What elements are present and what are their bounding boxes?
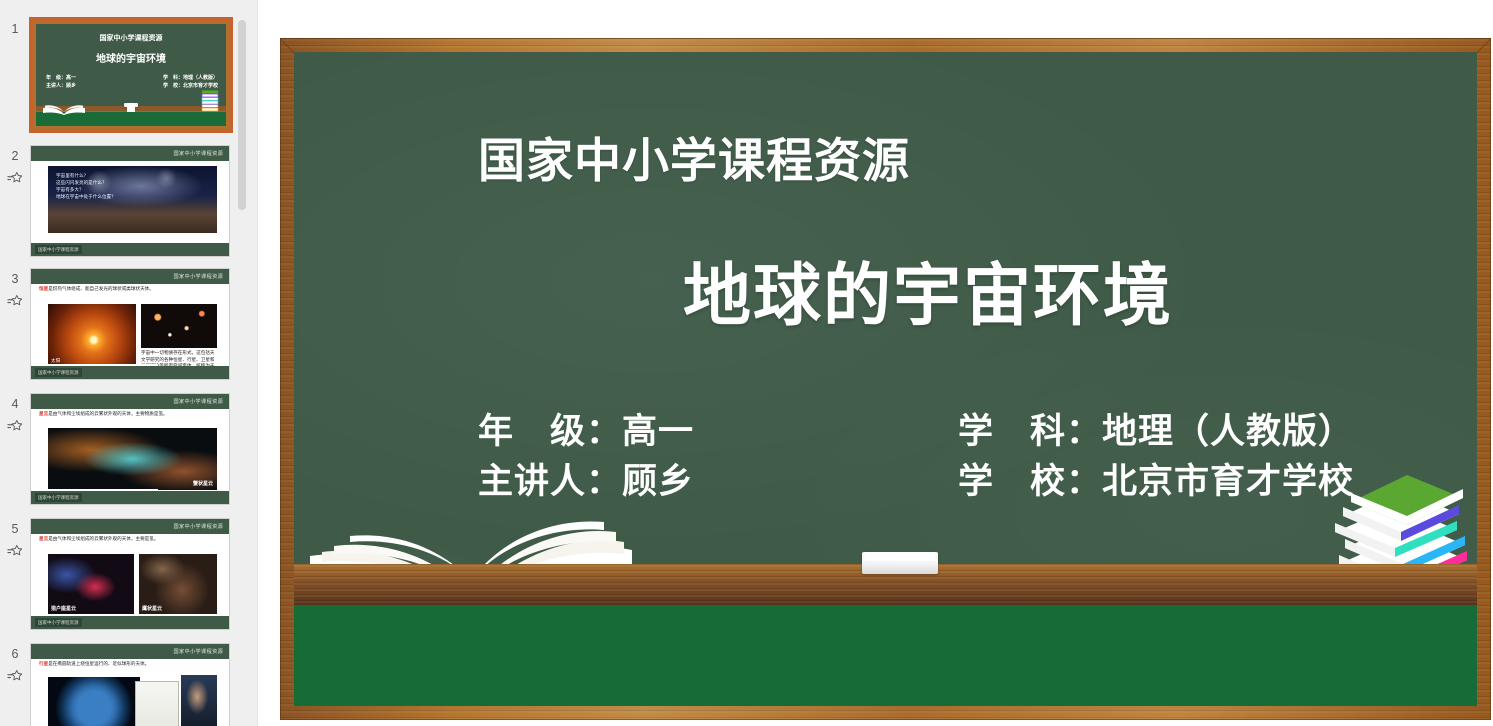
mini-heading-1: 地球的宇宙环境	[36, 50, 226, 65]
thumbnail-scroll-area[interactable]: 1 国家中小学课程资源 地球的宇宙环境 年 级：高一 学 科：地理（人教版） 主…	[0, 0, 258, 726]
slide-base-band	[294, 606, 1477, 706]
mini-footer-4: 国家中小学课程资源	[31, 491, 229, 504]
mini-footer-3: 国家中小学课程资源	[31, 366, 229, 379]
thumbnail-frame-4[interactable]: 国家中小学课程资源 星云是由气体和尘埃组成的云雾状外观的天体，主要物质是氢。 蟹…	[30, 393, 230, 505]
mini-footer-tag-5: 国家中小学课程资源	[35, 618, 82, 627]
mini-meta-right-1a: 学 科：地理（人教版）	[163, 74, 218, 82]
mini-body-text-4: 是由气体和尘埃组成的云雾状外观的天体，主要物质是氢。	[48, 411, 167, 416]
mini-text-block-2: 宇宙里有什么？ 这些闪闪发亮的是什么？ 宇宙有多大？ 地球在宇宙中处于什么位置？	[56, 172, 116, 200]
mini-meta-row-1b: 主讲人：顾乡 学 校：北京市育才学校	[46, 82, 218, 90]
mini-header-text-6: 国家中小学课程资源	[174, 648, 224, 655]
mini-slide-4: 国家中小学课程资源 星云是由气体和尘埃组成的云雾状外观的天体，主要物质是氢。 蟹…	[31, 394, 229, 504]
mini-body-text-6: 是在椭圆轨道上绕恒星运行的、近似球形的天体。	[48, 661, 149, 666]
thumbnail-item-6[interactable]: 6 国家中小学课程资源 行星是在椭圆轨道上绕恒星运行	[0, 643, 230, 726]
thumbnail-item-2[interactable]: 2 国家中小学课程资源	[0, 145, 230, 257]
mini-slide-2: 国家中小学课程资源 宇宙里有什么？ 这些闪闪发亮的是什么？ 宇宙有多大？ 地球在…	[31, 146, 229, 256]
thumbnail-gutter-2: 2	[0, 145, 30, 187]
meta-subject: 学 科：地理（人教版）	[958, 407, 1354, 457]
mini-header-text-2: 国家中小学课程资源	[174, 150, 224, 157]
mini-header-text-4: 国家中小学课程资源	[174, 398, 224, 405]
thumbnail-gutter-4: 4	[0, 393, 30, 435]
mini-slide-3: 国家中小学课程资源 恒星是炽热气体组成、能自己发光的球状或类球状天体。 太阳	[31, 269, 229, 379]
thumbnail-gutter-6: 6	[0, 643, 30, 685]
slide-number-2: 2	[0, 149, 30, 163]
mini-header-text-5: 国家中小学课程资源	[174, 523, 224, 530]
mini-image-crab-nebula: 蟹状星云	[48, 428, 217, 490]
mini-image-milkyway: 宇宙里有什么？ 这些闪闪发亮的是什么？ 宇宙有多大？ 地球在宇宙中处于什么位置？	[48, 166, 217, 233]
mini-body-4: 星云是由气体和尘埃组成的云雾状外观的天体，主要物质是氢。 蟹状星云	[31, 409, 229, 491]
mini-image-label-eagle: 鹰状星云	[142, 605, 162, 612]
mini-footer-tag-4: 国家中小学课程资源	[35, 493, 82, 502]
mini-body-text-5: 是由气体和尘埃组成的云雾状外观的天体，主要是氢。	[48, 536, 158, 541]
thumbnail-gutter-1: 1	[0, 18, 30, 36]
chalk-eraser-icon	[862, 552, 938, 574]
animation-star-icon-4[interactable]	[7, 419, 24, 435]
mini-caption-6: 行星是在椭圆轨道上绕恒星运行的、近似球形的天体。	[39, 661, 221, 668]
mini-line-2-0: 宇宙里有什么？	[56, 172, 116, 179]
mini-image-earth	[48, 677, 140, 726]
slide-heading: 地球的宇宙环境	[683, 256, 1173, 336]
meta-row-grade-subject: 年 级：高一 学 科：地理（人教版）	[478, 407, 1378, 457]
mini-highlight-5: 星云	[39, 536, 48, 541]
mini-book-stack-icon-1	[200, 88, 220, 114]
slide-title: 国家中小学课程资源	[478, 132, 910, 190]
mini-image-label-crab: 蟹状星云	[193, 480, 213, 487]
slide-number-4: 4	[0, 397, 30, 411]
thumbnail-gutter-5: 5	[0, 518, 30, 560]
mini-body-5: 星云是由气体和尘埃组成的云雾状外观的天体，主要是氢。 猎户座星云 鹰状星云	[31, 534, 229, 616]
mini-header-6: 国家中小学课程资源	[31, 644, 229, 659]
mini-footer-2: 国家中小学课程资源	[31, 243, 229, 256]
mini-line-2-2: 宇宙有多大？	[56, 186, 116, 193]
thumbnail-item-1[interactable]: 1 国家中小学课程资源 地球的宇宙环境 年 级：高一 学 科：地理（人教版） 主…	[0, 18, 232, 132]
mini-caption-5: 星云是由气体和尘埃组成的云雾状外观的天体，主要是氢。	[39, 536, 221, 543]
current-slide[interactable]: 国家中小学课程资源 地球的宇宙环境 年 级：高一 学 科：地理（人教版） 主讲人…	[280, 38, 1491, 720]
animation-star-icon-6[interactable]	[7, 669, 24, 685]
mini-image-astronaut	[181, 675, 217, 726]
meta-grade: 年 级：高一	[478, 407, 958, 457]
mini-footer-tag-3: 国家中小学课程资源	[35, 368, 82, 377]
thumbnail-frame-1[interactable]: 国家中小学课程资源 地球的宇宙环境 年 级：高一 学 科：地理（人教版） 主讲人…	[30, 18, 232, 132]
mini-footer-tag-2: 国家中小学课程资源	[35, 245, 82, 254]
thumbnail-item-4[interactable]: 4 国家中小学课程资源 星云是由气体和尘埃组成的云雾	[0, 393, 230, 505]
slide-number-1: 1	[0, 22, 30, 36]
mini-highlight-4: 星云	[39, 411, 48, 416]
slide-number-3: 3	[0, 272, 30, 286]
mini-header-3: 国家中小学课程资源	[31, 269, 229, 284]
mini-progress-bar-3	[31, 364, 158, 366]
mini-header-5: 国家中小学课程资源	[31, 519, 229, 534]
slide-number-6: 6	[0, 647, 30, 661]
mini-body-2: 宇宙里有什么？ 这些闪闪发亮的是什么？ 宇宙有多大？ 地球在宇宙中处于什么位置？	[31, 161, 229, 243]
powerpoint-slide-view: 1 国家中小学课程资源 地球的宇宙环境 年 级：高一 学 科：地理（人教版） 主…	[0, 0, 1493, 726]
thumbnail-gutter-3: 3	[0, 268, 30, 310]
mini-slide-6: 国家中小学课程资源 行星是在椭圆轨道上绕恒星运行的、近似球形的天体。	[31, 644, 229, 726]
mini-header-4: 国家中小学课程资源	[31, 394, 229, 409]
mini-progress-bar-2	[31, 241, 158, 243]
mini-image-document	[135, 681, 179, 726]
mini-line-2-1: 这些闪闪发亮的是什么？	[56, 179, 116, 186]
mini-header-2: 国家中小学课程资源	[31, 146, 229, 161]
slide-number-5: 5	[0, 522, 30, 536]
thumbnail-item-5[interactable]: 5 国家中小学课程资源 星云是由气体和尘埃组成的云雾	[0, 518, 230, 630]
mini-slide-5: 国家中小学课程资源 星云是由气体和尘埃组成的云雾状外观的天体，主要是氢。 猎户座…	[31, 519, 229, 629]
slide-meta-block: 年 级：高一 学 科：地理（人教版） 主讲人：顾乡 学 校：北京市育才学校	[478, 407, 1378, 507]
thumbnail-frame-2[interactable]: 国家中小学课程资源 宇宙里有什么？ 这些闪闪发亮的是什么？ 宇宙有多大？ 地球在…	[30, 145, 230, 257]
mini-meta-row-1a: 年 级：高一 学 科：地理（人教版）	[46, 74, 218, 82]
mini-header-text-3: 国家中小学课程资源	[174, 273, 224, 280]
mini-caption-3: 恒星是炽热气体组成、能自己发光的球状或类球状天体。	[39, 286, 221, 293]
mini-line-2-3: 地球在宇宙中处于什么位置？	[56, 193, 116, 200]
mini-image-orion-nebula: 猎户座星云	[48, 554, 134, 614]
mini-highlight-6: 行星	[39, 661, 48, 666]
thumbnail-scrollbar[interactable]	[238, 0, 246, 726]
chalkboard-surface: 国家中小学课程资源 地球的宇宙环境 年 级：高一 学 科：地理（人教版） 主讲人…	[294, 52, 1477, 706]
mini-progress-bar-4	[31, 489, 158, 491]
mini-body-6: 行星是在椭圆轨道上绕恒星运行的、近似球形的天体。	[31, 659, 229, 726]
thumbnail-item-3[interactable]: 3 国家中小学课程资源 恒星是炽热气体组成、能自己发	[0, 268, 230, 380]
animation-star-icon-2[interactable]	[7, 171, 24, 187]
meta-school: 学 校：北京市育才学校	[958, 457, 1354, 507]
mini-meta-left-1b: 主讲人：顾乡	[46, 82, 76, 90]
animation-star-icon-5[interactable]	[7, 544, 24, 560]
mini-body-text-3: 是炽热气体组成、能自己发光的球状或类球状天体。	[48, 286, 154, 291]
mini-meta-left-1a: 年 级：高一	[46, 74, 76, 82]
mini-image-eagle-nebula: 鹰状星云	[139, 554, 217, 614]
animation-star-icon-3[interactable]	[7, 294, 24, 310]
mini-progress-bar-5	[31, 614, 158, 616]
thumbnail-frame-5[interactable]: 国家中小学课程资源 星云是由气体和尘埃组成的云雾状外观的天体，主要是氢。 猎户座…	[30, 518, 230, 630]
slide-thumbnail-panel[interactable]: 1 国家中小学课程资源 地球的宇宙环境 年 级：高一 学 科：地理（人教版） 主…	[0, 0, 258, 726]
mini-footer-5: 国家中小学课程资源	[31, 616, 229, 629]
thumbnail-frame-3[interactable]: 国家中小学课程资源 恒星是炽热气体组成、能自己发光的球状或类球状天体。 太阳	[30, 268, 230, 380]
mini-open-book-icon-1	[42, 99, 86, 115]
mini-caption-4: 星云是由气体和尘埃组成的云雾状外观的天体，主要物质是氢。	[39, 411, 221, 418]
mini-eraser-icon-1	[124, 103, 138, 107]
scrollbar-thumb[interactable]	[238, 20, 246, 210]
thumbnail-frame-6[interactable]: 国家中小学课程资源 行星是在椭圆轨道上绕恒星运行的、近似球形的天体。	[30, 643, 230, 726]
mini-image-label-orion: 猎户座星云	[51, 605, 76, 612]
mini-body-3: 恒星是炽热气体组成、能自己发光的球状或类球状天体。 太阳 宇宙中一切物质存在形式…	[31, 284, 229, 366]
slide-stage: 国家中小学课程资源 地球的宇宙环境 年 级：高一 学 科：地理（人教版） 主讲人…	[258, 0, 1493, 726]
mini-highlight-3: 恒星	[39, 286, 48, 291]
mini-image-starfield	[141, 304, 217, 348]
mini-title-1: 国家中小学课程资源	[36, 33, 226, 43]
mini-image-sun: 太阳	[48, 304, 136, 366]
mini-chalkboard-1: 国家中小学课程资源 地球的宇宙环境 年 级：高一 学 科：地理（人教版） 主讲人…	[33, 21, 229, 129]
